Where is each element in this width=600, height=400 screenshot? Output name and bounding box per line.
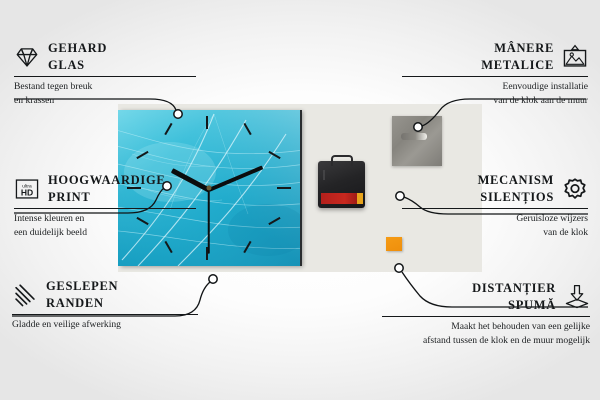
divider (402, 208, 588, 209)
divider (402, 76, 588, 77)
feature-header: GESLEPENRANDEN (12, 278, 198, 311)
feature-title: MECANISMSILENȚIOS (478, 172, 554, 205)
feature-header: ultra HD HOOGWAARDIGEPRINT (14, 172, 196, 205)
infographic-stage: GEHARDGLAS Bestand tegen breuken krassen… (0, 0, 600, 400)
feature-body: Maakt het behouden van een gelijkeafstan… (382, 320, 590, 347)
ultra-hd-icon: ultra HD (14, 176, 40, 202)
minute-hand (208, 165, 263, 191)
feature-body: Intense kleuren eneen duidelijk beeld (14, 212, 196, 239)
battery-label (321, 193, 362, 204)
feature-title: MÂNEREMETALICE (481, 40, 554, 73)
metal-hanger-plate (392, 116, 442, 166)
second-hand (208, 189, 210, 253)
feature-high-quality-print: ultra HD HOOGWAARDIGEPRINT Intense kleur… (14, 172, 196, 240)
diamond-icon (14, 44, 40, 70)
divider (382, 316, 590, 317)
feature-header: DISTANȚIERSPUMĂ (382, 280, 590, 313)
divider (14, 208, 196, 209)
feature-polished-edges: GESLEPENRANDEN Gladde en veilige afwerki… (12, 278, 198, 332)
mechanism-detail (323, 170, 353, 180)
divider (14, 76, 196, 77)
feature-title: HOOGWAARDIGEPRINT (48, 172, 165, 205)
feature-tempered-glass: GEHARDGLAS Bestand tegen breuken krassen (14, 40, 196, 108)
feature-title: GEHARDGLAS (48, 40, 107, 73)
hanger-slot (401, 133, 427, 140)
battery-tip (357, 193, 363, 204)
feature-header: MECANISMSILENȚIOS (402, 172, 588, 205)
mechanism-hook (331, 155, 353, 166)
connector-dot-edges (209, 275, 217, 283)
press-down-icon (564, 284, 590, 310)
feature-metal-handles: MÂNEREMETALICE Eenvoudige installatievan… (402, 40, 588, 108)
feature-body: Gladde en veilige afwerking (12, 318, 198, 332)
feature-body: Eenvoudige installatievan de klok aan de… (402, 80, 588, 107)
feature-silent-mechanism: MECANISMSILENȚIOS Geruisloze wijzersvan … (402, 172, 588, 240)
diagonal-lines-icon (12, 282, 38, 308)
clock-mechanism (318, 161, 365, 208)
divider (12, 314, 198, 315)
feature-title: DISTANȚIERSPUMĂ (472, 280, 556, 313)
feature-body: Bestand tegen breuken krassen (14, 80, 196, 107)
feature-header: GEHARDGLAS (14, 40, 196, 73)
feature-header: MÂNEREMETALICE (402, 40, 588, 73)
picture-frame-icon (562, 44, 588, 70)
svg-text:HD: HD (21, 187, 33, 197)
feature-body: Geruisloze wijzersvan de klok (402, 212, 588, 239)
gear-icon (562, 176, 588, 202)
feature-foam-spacer: DISTANȚIERSPUMĂ Maakt het behouden van e… (382, 280, 590, 348)
clock-center-pin (207, 186, 212, 191)
foam-spacer (386, 237, 402, 251)
feature-title: GESLEPENRANDEN (46, 278, 118, 311)
